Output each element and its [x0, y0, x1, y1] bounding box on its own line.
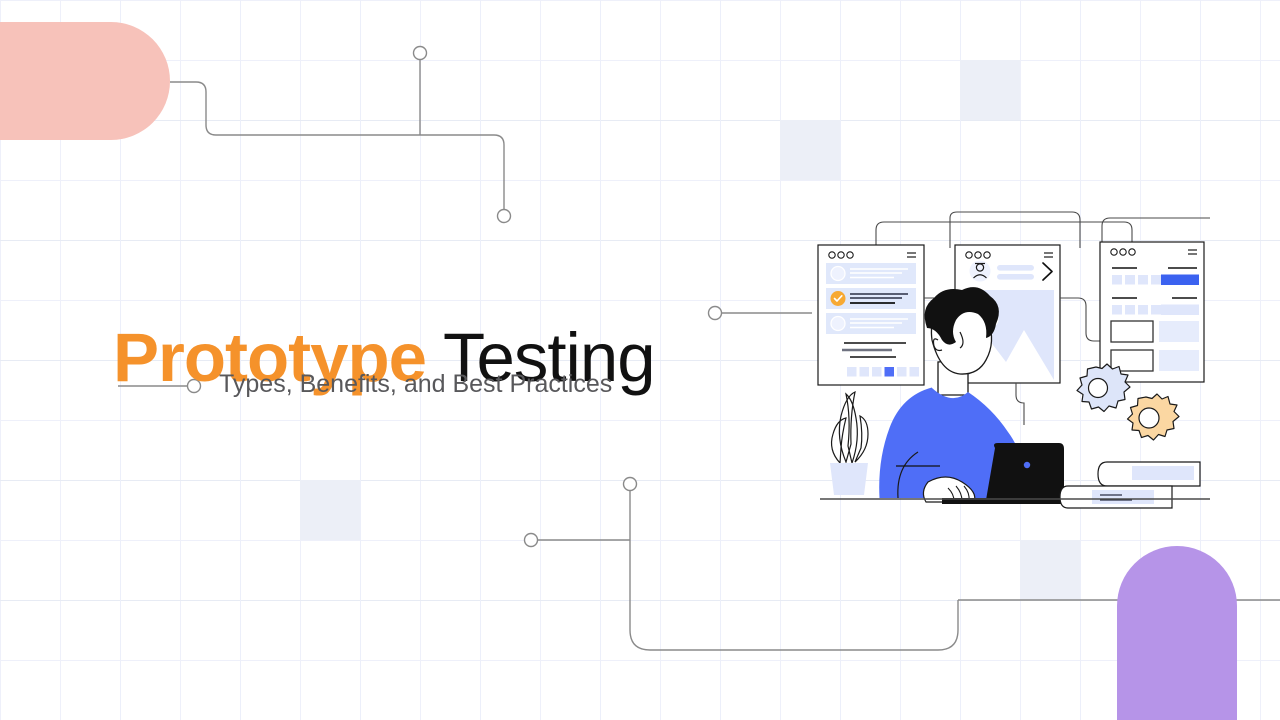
panel-bracket-outer: [876, 222, 1132, 248]
list-panel[interactable]: [818, 245, 924, 385]
grid-cell-fill: [300, 480, 360, 540]
list-row: [826, 313, 916, 334]
book-stack: [1060, 462, 1200, 508]
highlight-bar: [1161, 275, 1199, 286]
slide-canvas: Prototype Testing Types, Benefits, and B…: [0, 0, 1280, 720]
text-bar: [997, 265, 1034, 271]
laptop-logo-dot: [1024, 462, 1030, 468]
grid-cell-fill: [960, 60, 1020, 120]
list-row: [826, 263, 916, 284]
pink-blob-shape: [0, 22, 170, 140]
list-row-selected: [826, 288, 916, 309]
check-icon: [831, 291, 846, 306]
page-subtitle: Types, Benefits, and Best Practices: [219, 369, 612, 400]
potted-plant: [830, 392, 868, 495]
form-panel[interactable]: [1100, 242, 1204, 382]
text-bar: [997, 274, 1034, 280]
hero-illustration: [810, 210, 1210, 510]
person-icon: [970, 261, 991, 282]
panel-bracket-inner: [950, 212, 1080, 248]
plant-pot: [830, 463, 868, 495]
gear-orange-icon: [1128, 394, 1180, 440]
purple-blob-shape: [1117, 546, 1237, 720]
grid-cell-fill: [780, 120, 840, 180]
grid-cell-fill: [1020, 540, 1080, 600]
